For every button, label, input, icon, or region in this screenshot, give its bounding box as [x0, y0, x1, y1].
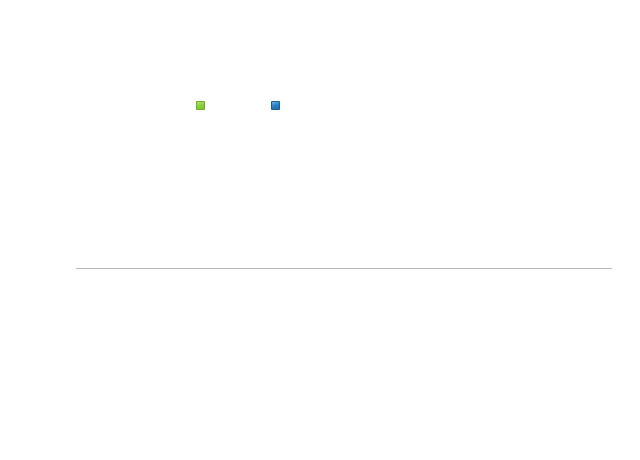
- category-axis-labels: [0, 268, 640, 460]
- chart-canvas: [0, 0, 640, 460]
- plot-area: [78, 108, 612, 268]
- area-series-desired: [78, 108, 612, 268]
- plot-inner: [78, 108, 612, 268]
